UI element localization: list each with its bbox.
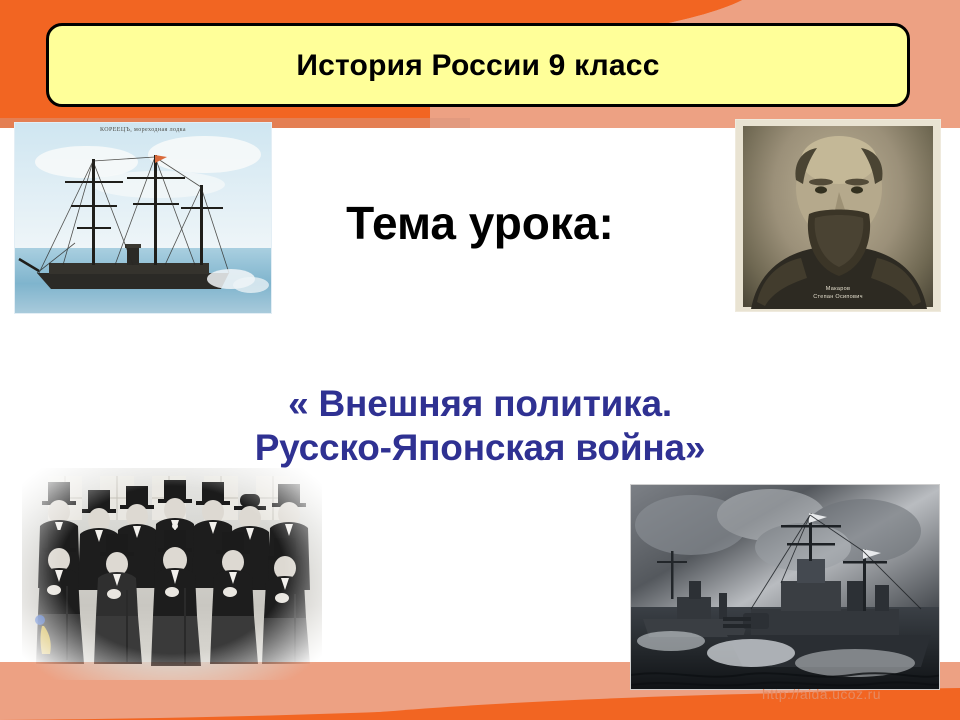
slide-title-banner: История России 9 класс [46, 23, 910, 107]
makarov-caption: Макаров Степан Осипович [743, 286, 933, 302]
source-watermark: http://aida.ucoz.ru [762, 686, 881, 702]
koreets-caption: КОРЕЕЦЪ, мореходная лодка [15, 127, 271, 133]
image-delegation-group [22, 468, 322, 680]
slide-title-text: История России 9 класс [296, 49, 659, 82]
presentation-slide: История России 9 класс [0, 0, 960, 720]
makarov-caption-surname: Макаров [743, 286, 933, 294]
subtitle-line-2: Русско-Японская война» [0, 426, 960, 470]
lesson-topic-headline: Тема урока: [0, 196, 960, 250]
battle-ships-illustration [631, 485, 940, 690]
delegation-figures-illustration [22, 468, 322, 680]
lesson-topic-subtitle: « Внешняя политика. Русско-Японская войн… [0, 382, 960, 469]
image-naval-battle [630, 484, 940, 690]
makarov-caption-given: Степан Осипович [743, 294, 933, 302]
subtitle-line-1: « Внешняя политика. [0, 382, 960, 426]
delegation-photo-canvas [22, 468, 322, 680]
